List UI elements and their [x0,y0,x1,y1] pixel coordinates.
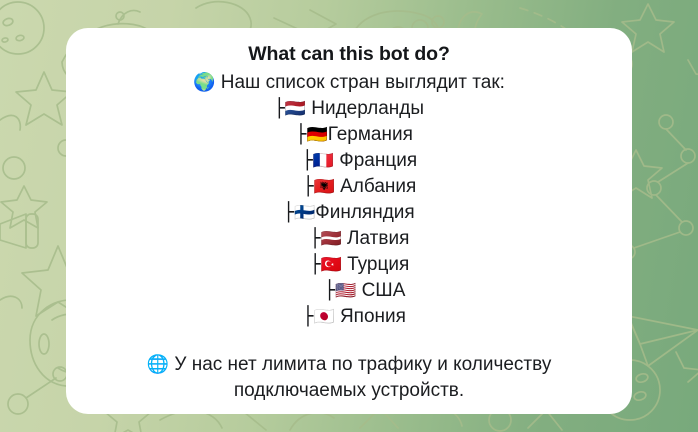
globe-with-meridians-icon: 🌐 [147,354,169,375]
country-tree-list: ├🇳🇱 Нидерланды ├🇩🇪Германия ├🇫🇷 Франция ├… [82,96,616,330]
intro-line: 🌍 Наш список стран выглядит так: [82,70,616,96]
footer-note: 🌐 У нас нет лимита по трафику и количест… [82,352,616,404]
flag-turkey-icon: 🇹🇷 [321,255,342,274]
indent-spacer [289,228,310,249]
globe-europe-africa-icon: 🌍 [193,72,215,93]
country-label: США [362,280,406,301]
tree-branch-icon: ├ [324,280,335,301]
footer-note-text: У нас нет лимита по трафику и количеству… [174,354,551,401]
intro-text: Наш список стран выглядит так: [221,72,505,93]
tree-branch-icon: ├ [310,254,321,275]
card-content: What can this bot do? 🌍 Наш список стран… [66,28,632,414]
indent-spacer [293,280,325,301]
flag-albania-icon: 🇦🇱 [314,177,335,196]
country-label: Албания [340,176,416,197]
list-item: ├🇹🇷 Турция [82,252,616,278]
country-label: Латвия [347,228,409,249]
tree-branch-icon: ├ [283,202,294,223]
flag-finland-icon: 🇫🇮 [294,203,315,222]
list-item: ├🇫🇮Финляндия [82,200,616,226]
country-label: Германия [328,124,413,145]
bot-info-card: What can this bot do? 🌍 Наш список стран… [66,28,632,414]
tree-branch-icon: ├ [302,150,313,171]
flag-japan-icon: 🇯🇵 [313,307,334,326]
flag-france-icon: 🇫🇷 [313,151,334,170]
list-item: ├🇩🇪Германия [82,122,616,148]
list-item: ├🇳🇱 Нидерланды [82,96,616,122]
page-title: What can this bot do? [82,42,616,66]
flag-latvia-icon: 🇱🇻 [321,229,342,248]
list-item: ├🇯🇵 Япония [82,304,616,330]
tree-branch-icon: ├ [303,306,314,327]
tree-branch-icon: ├ [296,124,307,145]
indent-spacer [285,124,296,145]
tree-branch-icon: ├ [310,228,321,249]
list-item: ├🇫🇷 Франция [82,148,616,174]
list-item: ├🇱🇻 Латвия [82,226,616,252]
indent-spacer [282,176,303,197]
country-label: Финляндия [315,202,414,223]
indent-spacer [289,254,310,275]
indent-spacer [281,150,302,171]
tree-branch-icon: ├ [303,176,314,197]
flag-netherlands-icon: 🇳🇱 [285,99,306,118]
country-label: Нидерланды [311,98,424,119]
country-label: Франция [339,150,417,171]
country-label: Япония [340,306,406,327]
flag-usa-icon: 🇺🇸 [335,281,356,300]
list-item: ├🇺🇸 США [82,278,616,304]
tree-branch-icon: ├ [274,98,285,119]
country-label: Турция [347,254,409,275]
list-item: ├🇦🇱 Албания [82,174,616,200]
indent-spacer [292,306,303,327]
flag-germany-icon: 🇩🇪 [307,125,328,144]
